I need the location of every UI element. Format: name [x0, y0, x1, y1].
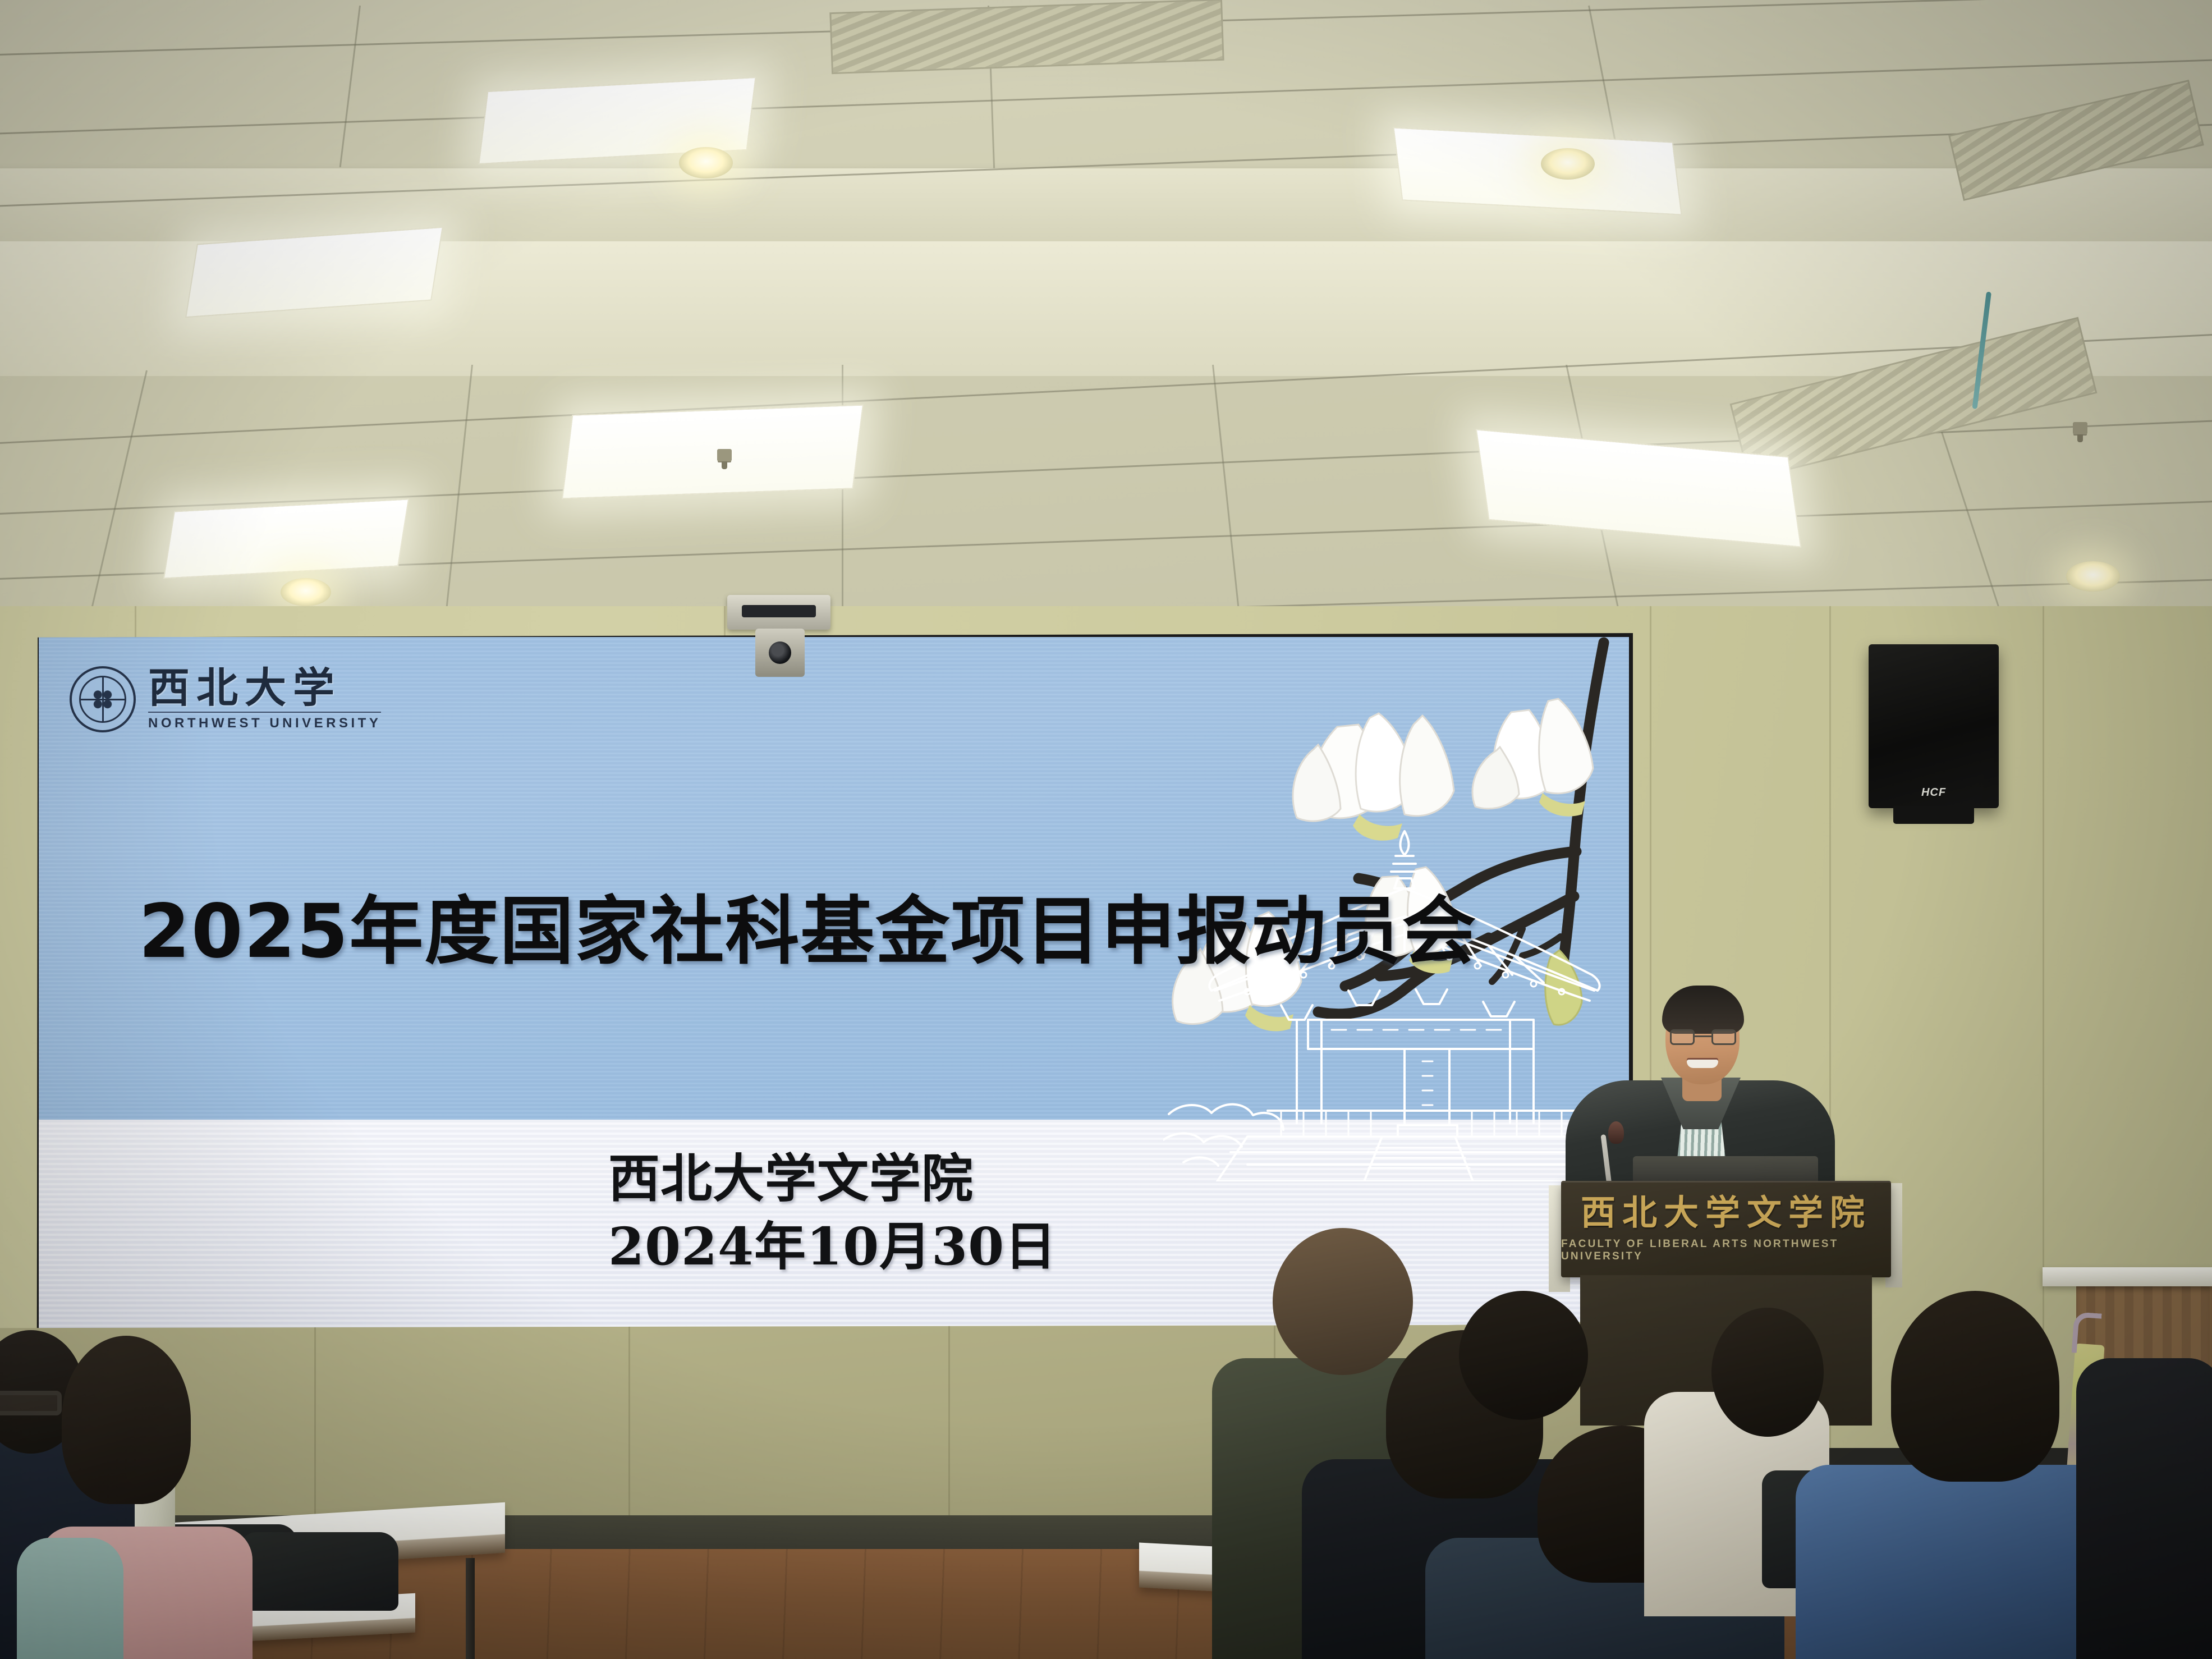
- attendee-eyeglasses-icon: [0, 1391, 62, 1415]
- wall-panel-seam: [2043, 606, 2044, 1448]
- eyeglass-bridge: [1695, 1035, 1711, 1037]
- plaque-chinese-text: 西北大学文学院: [1581, 1195, 1871, 1230]
- slide-subtitle-org: 西北大学文学院: [608, 1145, 1057, 1213]
- led-panel-light: [562, 405, 864, 499]
- led-panel-light: [1393, 127, 1682, 215]
- speaker-brand-label: HCF: [1921, 786, 1946, 799]
- camera-lens-head: [755, 629, 805, 677]
- eyeglass-lens-right: [1711, 1029, 1736, 1045]
- suspended-ceiling: [0, 0, 2212, 662]
- presenter-eyeglasses-icon: [1670, 1029, 1736, 1046]
- ceiling-ptz-camera: [727, 595, 830, 630]
- ceiling-tile-seam: [339, 6, 361, 167]
- recessed-downlight: [679, 147, 733, 178]
- speaker-mount-bracket: [1893, 806, 1974, 824]
- wall-speaker: HCF: [1869, 644, 1999, 808]
- attendee-head: [1711, 1308, 1824, 1437]
- slide-title: 2025年度国家社科基金项目申报动员会: [139, 872, 1477, 979]
- attendee-right-dark: [2076, 1358, 2212, 1659]
- projected-slide: 西北大学 NORTHWEST UNIVERSITY 2025年度国家社科基金项目…: [39, 637, 1629, 1352]
- side-counter-top: [2043, 1267, 2212, 1286]
- recessed-downlight: [1541, 148, 1595, 180]
- microphone-head: [1608, 1121, 1624, 1144]
- attendee-left-teal-sleeve: [17, 1538, 123, 1659]
- attendee-right-blue-shirt: [1796, 1465, 2110, 1659]
- logo-chinese-name: 西北大学: [148, 667, 381, 709]
- sprinkler-head: [717, 449, 732, 461]
- recessed-downlight: [281, 578, 331, 606]
- attendee-head: [1273, 1228, 1413, 1375]
- attendee-head: [1459, 1291, 1588, 1420]
- slide-subtitle: 西北大学文学院 2024年10月30日: [608, 1145, 1057, 1281]
- presenter-hair: [1662, 986, 1744, 1034]
- attendee-head: [62, 1336, 191, 1504]
- backpack: [241, 1532, 398, 1611]
- university-logo: 西北大学 NORTHWEST UNIVERSITY: [70, 666, 381, 732]
- desk-leg: [466, 1558, 475, 1659]
- slide-subtitle-date: 2024年10月30日: [608, 1213, 1057, 1281]
- attendee-head: [1891, 1291, 2059, 1482]
- led-panel-light: [163, 498, 410, 579]
- projection-screen: 西北大学 NORTHWEST UNIVERSITY 2025年度国家社科基金项目…: [34, 633, 1633, 1357]
- eyeglass-lens-left: [1670, 1029, 1695, 1045]
- sprinkler-head: [2073, 422, 2087, 434]
- presenter-smile: [1687, 1060, 1718, 1068]
- logo-english-name: NORTHWEST UNIVERSITY: [148, 712, 381, 731]
- northwest-university-seal-icon: [70, 666, 136, 732]
- lectern-plaque: 西北大学文学院 FACULTY OF LIBERAL ARTS NORTHWES…: [1561, 1181, 1891, 1277]
- lecture-room-photo: 西北大学 NORTHWEST UNIVERSITY 2025年度国家社科基金项目…: [0, 0, 2212, 1659]
- camera-indicator-bar: [742, 605, 816, 617]
- plaque-english-text: FACULTY OF LIBERAL ARTS NORTHWEST UNIVER…: [1561, 1238, 1891, 1263]
- hvac-diffuser: [829, 0, 1224, 74]
- recessed-downlight: [2066, 561, 2120, 592]
